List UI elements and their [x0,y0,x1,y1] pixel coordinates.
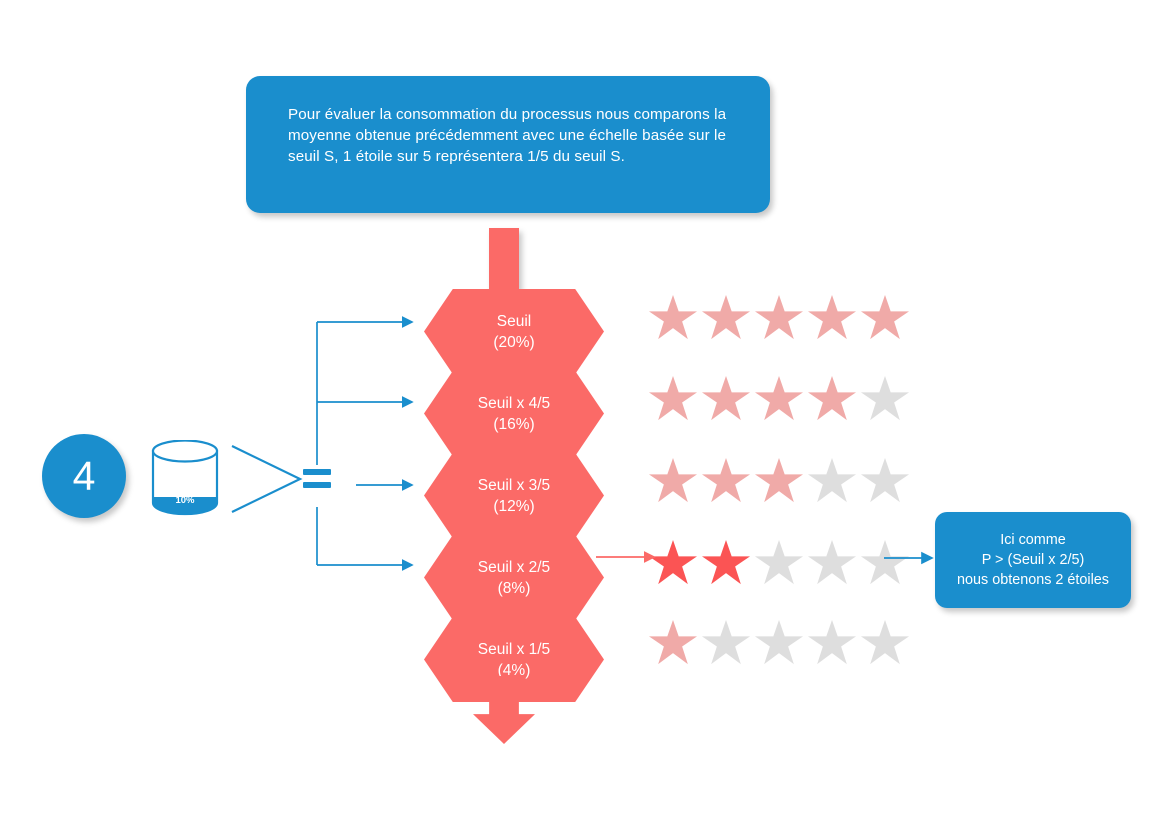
star-icon [755,620,803,666]
threshold-hexagon[interactable]: Seuil x 4/5 (16%) [424,371,604,456]
threshold-hexagon[interactable]: Seuil (20%) [424,289,604,374]
callout-result: Ici comme P > (Seuil x 2/5) nous obtenon… [935,512,1131,608]
star-icon [808,540,856,586]
hexagon-shape [424,453,604,538]
hexagon-shape [424,371,604,456]
star-icon [861,620,909,666]
step-number-label: 4 [73,456,96,497]
diagram-canvas: Pour évaluer la consommation du processu… [0,0,1169,825]
star-icon [649,376,697,422]
star-icon [702,540,750,586]
star-icon [861,376,909,422]
arrow-stars-to-callout [884,548,942,568]
star-icon [755,540,803,586]
star-rating-row [649,620,909,666]
branch-connectors [306,300,436,580]
star-icon [702,458,750,504]
star-icon [808,376,856,422]
threshold-hexagon[interactable]: Seuil x 3/5 (12%) [424,453,604,538]
step-number-badge: 4 [42,434,126,518]
threshold-hexagon[interactable]: Seuil x 2/5 (8%) [424,535,604,620]
callout-result-text: Ici comme P > (Seuil x 2/5) nous obtenon… [957,530,1109,590]
star-icon [861,295,909,341]
star-icon [649,620,697,666]
star-icon [702,376,750,422]
callout-explanation-text: Pour évaluer la consommation du processu… [288,104,740,167]
star-rating-row [649,376,909,422]
hexagon-shape [424,535,604,620]
star-icon [808,620,856,666]
callout-explanation: Pour évaluer la consommation du processu… [246,76,770,213]
database-icon: 10% [150,440,220,516]
star-icon [755,376,803,422]
star-icon [649,458,697,504]
star-rating-row [649,295,909,341]
star-rating-row [649,458,909,504]
star-icon [702,620,750,666]
star-rating-row-highlighted [649,540,909,586]
star-icon [755,295,803,341]
chevron-right-icon [228,440,306,518]
arrow-hexagon-to-stars [596,545,666,569]
hexagon-shape [424,289,604,374]
star-icon [702,295,750,341]
star-icon [861,458,909,504]
star-icon [808,295,856,341]
star-icon [649,295,697,341]
database-fill-label: 10% [150,495,220,506]
star-icon [755,458,803,504]
star-icon [808,458,856,504]
